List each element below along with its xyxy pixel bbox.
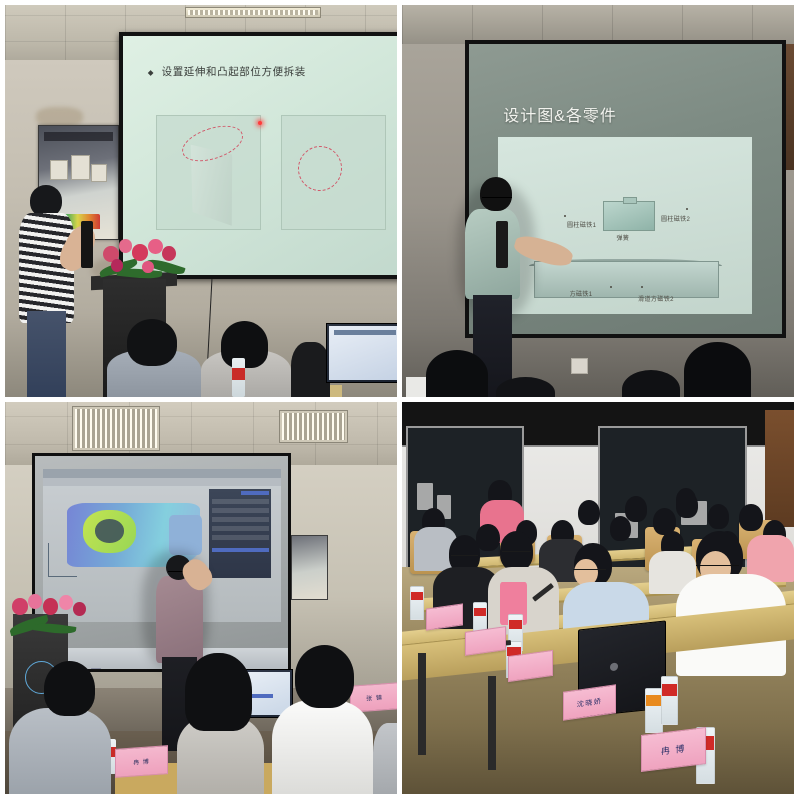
- eyeglasses: [451, 555, 478, 556]
- slide-bullet-icon: ◆: [148, 68, 154, 77]
- audience-member-head: [739, 504, 763, 531]
- audience-member-head: [295, 645, 354, 708]
- slide-title-text: 设置延伸和凸起部位方便拆装: [162, 64, 306, 79]
- diagram-leader-dot: [641, 286, 643, 288]
- audience-member-head: [426, 350, 489, 397]
- photo-panel-top-left: ◆ 设置延伸和凸起部位方便拆装: [5, 5, 397, 397]
- audience-member-torso: [373, 723, 397, 794]
- laptop: [326, 323, 397, 384]
- taskbar-icon: [91, 668, 101, 669]
- photo-collage: ◆ 设置延伸和凸起部位方便拆装: [0, 0, 800, 800]
- wall-poster: [291, 535, 328, 600]
- diagram-leader-dot: [686, 208, 688, 210]
- flower-bloom: [12, 598, 28, 614]
- water-bottle: [232, 358, 245, 397]
- eyeglasses: [502, 551, 531, 552]
- door: [765, 410, 794, 528]
- photo-panel-top-right: 设计图&各零件 圆柱磁铁1 圆柱磁铁2 弹簧 方磁铁1 滑道方磁铁2: [402, 5, 794, 397]
- flower-bloom: [119, 239, 133, 253]
- flower-bloom: [59, 595, 73, 610]
- water-bottle: [661, 676, 679, 725]
- flower-arrangement: [97, 234, 195, 297]
- audience-member-head: [578, 500, 600, 525]
- flower-bloom: [148, 239, 163, 254]
- desk-leg: [418, 653, 426, 755]
- laptop-screen-toolbar: [334, 330, 396, 335]
- flower-bloom: [43, 598, 58, 614]
- photo-panel-bottom-right: 沈晓娇 冉 博: [402, 402, 794, 794]
- diagram-leader-dot: [610, 286, 612, 288]
- presenter-torso: [465, 209, 520, 299]
- desk-leg: [488, 676, 496, 770]
- eyeglasses: [482, 197, 511, 206]
- diagram-leader-dot: [564, 215, 566, 217]
- eyeglasses: [696, 565, 739, 566]
- wall-socket: [571, 358, 589, 374]
- slide-diagram-canvas: 圆柱磁铁1 圆柱磁铁2 弹簧 方磁铁1 滑道方磁铁2: [498, 137, 752, 314]
- water-bottle: [410, 586, 425, 619]
- audience-member-head: [127, 319, 178, 366]
- audience-member-head: [625, 496, 647, 521]
- eyeglasses: [573, 569, 606, 570]
- microphone: [81, 221, 93, 268]
- presenter-legs: [27, 311, 66, 397]
- slide-title-text: 设计图&各零件: [503, 102, 617, 126]
- cad-property-row-selected: [212, 548, 269, 552]
- window-reflection: [417, 483, 433, 511]
- flower-bloom: [142, 261, 154, 274]
- cad-property-row: [212, 535, 269, 539]
- ceiling-light-fixture: [72, 406, 160, 451]
- flower-bloom: [111, 259, 123, 272]
- ceiling-light-fixture: [185, 7, 320, 18]
- presenter-head: [30, 185, 61, 216]
- name-placard: 冉 博: [115, 745, 168, 778]
- name-placard-text: 张 镇: [366, 693, 383, 703]
- diagram-label-square-magnet-1: 方磁铁1: [570, 289, 593, 298]
- poster-card: [91, 164, 107, 182]
- flower-bloom: [162, 246, 176, 261]
- audience-member-head: [684, 342, 751, 397]
- poster-card: [71, 155, 90, 180]
- audience-member-head: [291, 342, 330, 397]
- poster-header-strip: [44, 132, 113, 141]
- diagram-part-body: [603, 201, 656, 231]
- cad-property-row: [212, 517, 269, 521]
- wall-mark: [36, 107, 83, 127]
- cad-property-row: [212, 526, 269, 530]
- cad-window-toolbar: [43, 478, 281, 486]
- photo-panel-bottom-left: 冉 博 张 镇: [5, 402, 397, 794]
- cad-panel-tab-active: [241, 491, 268, 495]
- cad-property-row: [212, 508, 269, 512]
- lamp-tubes: [282, 413, 345, 440]
- audience-member-head: [708, 504, 730, 529]
- name-placard-text: 冉 博: [661, 742, 686, 758]
- diagram-label-spring: 弹簧: [617, 233, 630, 242]
- laptop-screen: [329, 326, 397, 381]
- flower-bloom: [73, 602, 86, 616]
- cad-window-titlebar: [43, 469, 281, 478]
- poster-card: [50, 160, 68, 180]
- audience-member-torso: [9, 708, 111, 794]
- flower-bloom: [132, 244, 148, 260]
- lamp-tubes: [75, 409, 157, 448]
- name-placard-text: 沈晓娇: [576, 696, 602, 710]
- diagram-label-cylinder-magnet-1: 圆柱磁铁1: [567, 220, 596, 229]
- cad-properties-panel: [209, 489, 271, 578]
- laser-pointer-dot: [258, 121, 262, 125]
- diagram-label-slide-square-magnet-2: 滑道方磁铁2: [638, 294, 674, 303]
- cad-property-row: [212, 499, 269, 503]
- diagram-label-cylinder-magnet-2: 圆柱磁铁2: [661, 214, 690, 223]
- audience-member-torso: [272, 700, 374, 794]
- audience-member-head: [185, 653, 252, 731]
- flower-arrangement: [9, 590, 95, 649]
- microphone: [496, 221, 508, 268]
- audience-member-head: [676, 488, 696, 512]
- diagram-part-base: [534, 261, 719, 298]
- ceiling-light-fixture: [279, 410, 348, 443]
- flower-bloom: [28, 594, 42, 609]
- audience-member-head: [44, 661, 95, 716]
- name-placard-text: 冉 博: [133, 757, 150, 767]
- cad-model-block: [169, 515, 202, 555]
- cad-model-detail: [95, 519, 124, 542]
- leaf: [33, 621, 77, 636]
- audience-member-head: [476, 524, 500, 551]
